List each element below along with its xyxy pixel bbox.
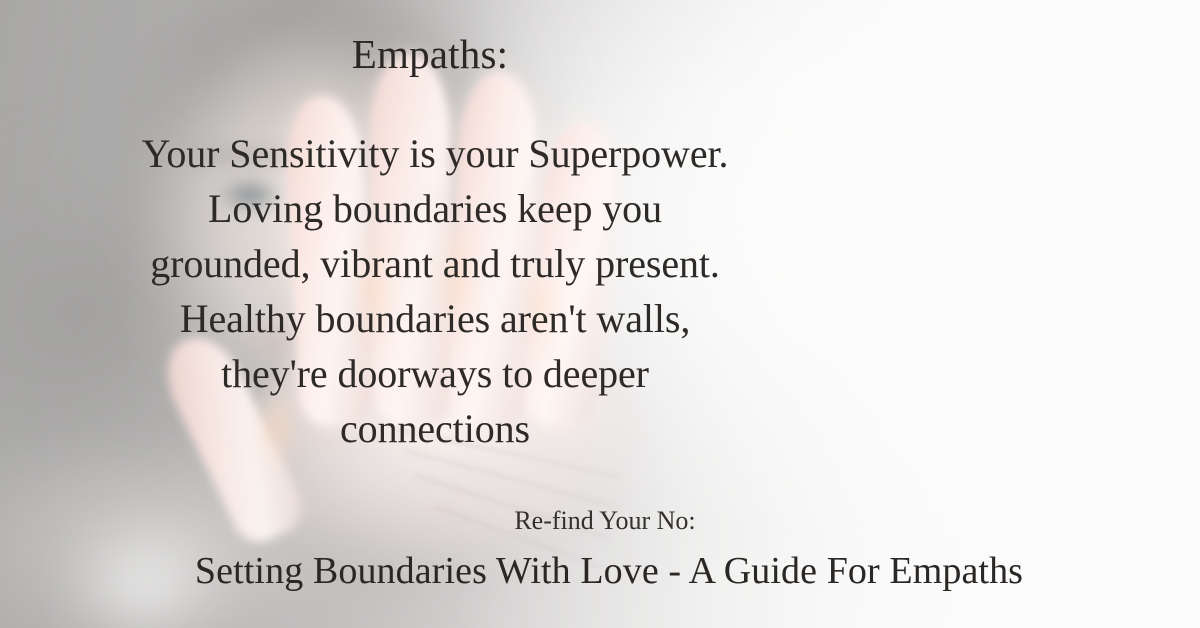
quote-line-6: connections: [0, 401, 1035, 456]
poster-canvas: Empaths: Your Sensitivity is your Superp…: [0, 0, 1200, 628]
quote-line-4: Healthy boundaries aren't walls,: [0, 291, 1035, 346]
headline-empaths: Empaths:: [0, 34, 1030, 75]
quote-line-2: Loving boundaries keep you: [0, 181, 1035, 236]
quote-line-5: they're doorways to deeper: [0, 346, 1035, 401]
quote-block: Your Sensitivity is your Superpower. Lov…: [0, 126, 1035, 456]
footer-kicker: Re-find Your No:: [5, 508, 1200, 534]
quote-line-3: grounded, vibrant and truly present.: [0, 236, 1035, 291]
footer-book-title: Setting Boundaries With Love - A Guide F…: [9, 552, 1200, 590]
quote-line-1: Your Sensitivity is your Superpower.: [0, 126, 1035, 181]
